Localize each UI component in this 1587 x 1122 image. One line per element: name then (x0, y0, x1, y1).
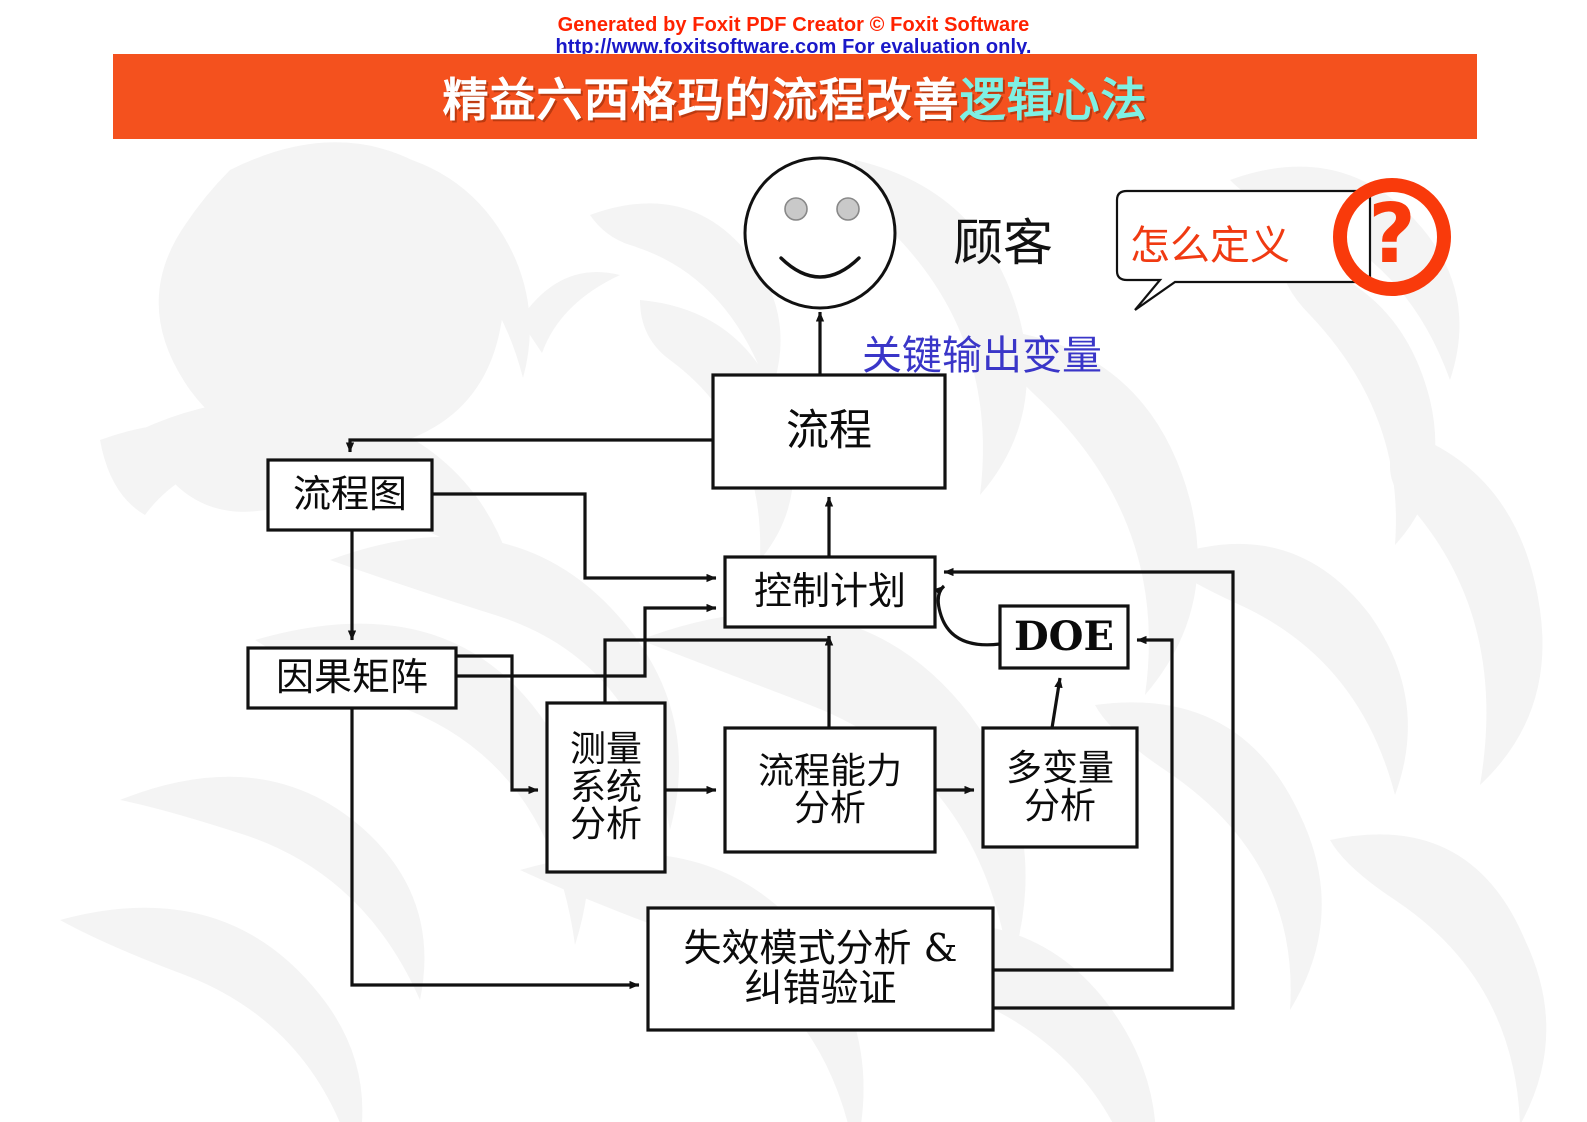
node-box-yinguo (248, 648, 456, 708)
slide-canvas: Generated by Foxit PDF Creator © Foxit S… (0, 0, 1587, 1122)
edge-msa-to-controlplan (605, 636, 829, 703)
edge-doe-to-controlplan (938, 586, 1000, 645)
title-banner-text: 精益六西格玛的流程改善逻辑心法 (113, 54, 1477, 139)
title-banner: 精益六西格玛的流程改善逻辑心法 (113, 54, 1477, 139)
node-box-nengli (725, 728, 935, 852)
flowchart-diagram (0, 0, 1587, 1122)
node-box-celiang (547, 703, 665, 872)
callout-text: 怎么定义 (1130, 213, 1290, 271)
edge-process-to-flowchart (350, 440, 713, 452)
node-box-shixiao (648, 908, 993, 1030)
edge-matrix-to-controlplan (456, 608, 716, 676)
node-box-duobian (983, 728, 1137, 847)
edge-flowchart-to-controlplan (432, 494, 716, 578)
title-main: 精益六西格玛的流程改善 (443, 64, 960, 130)
customer-smiley-face (745, 158, 895, 308)
node-box-kongzhi (725, 557, 935, 627)
customer-label: 顾客 (953, 203, 1053, 275)
node-box-liucheng (713, 375, 945, 488)
edge-multivar-to-doe (1052, 678, 1060, 728)
title-accent: 逻辑心法 (960, 64, 1148, 130)
key-output-label: 关键输出变量 (862, 323, 1102, 381)
node-box-liuchengtu (268, 460, 432, 530)
node-box-doe (1000, 606, 1128, 668)
question-mark-icon: ? (1333, 178, 1451, 296)
question-mark-glyph: ? (1368, 194, 1416, 276)
